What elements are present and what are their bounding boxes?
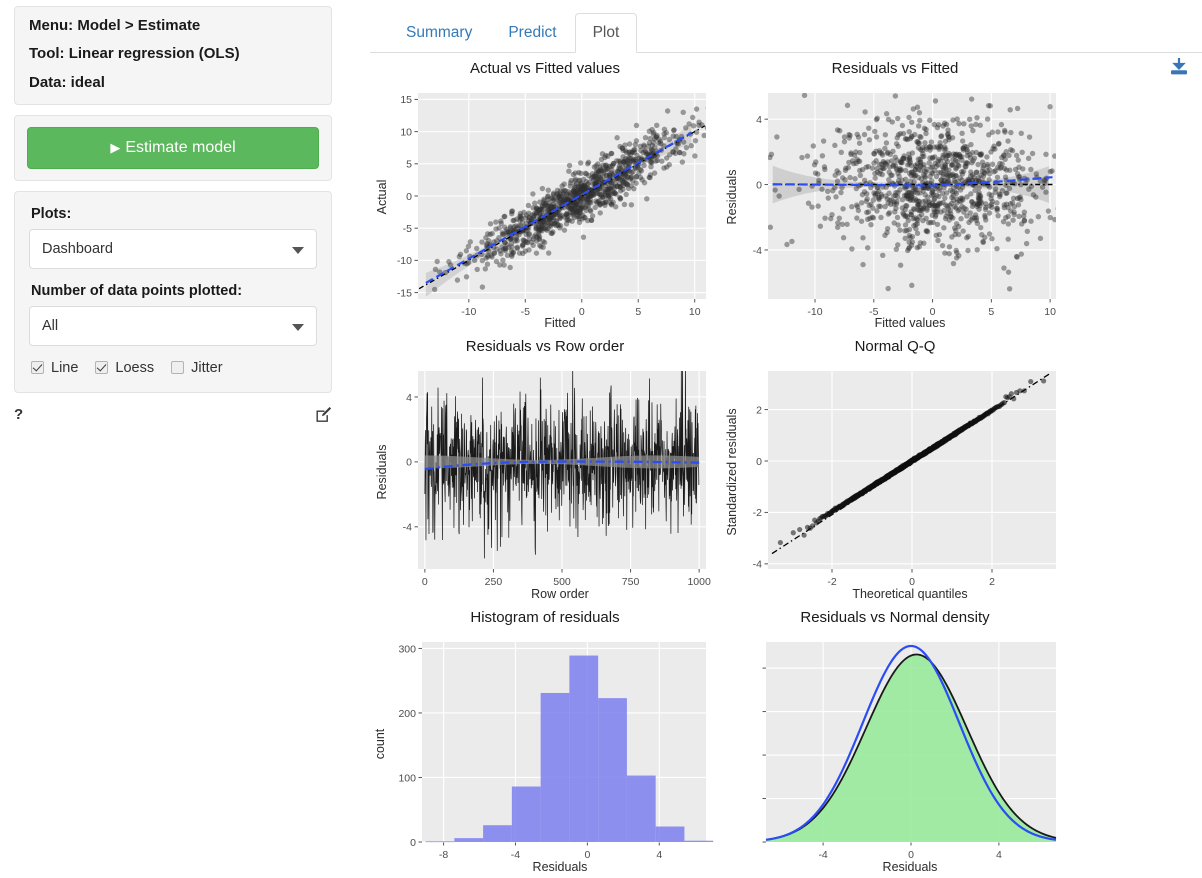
x-axis-label: Fitted values (875, 316, 946, 330)
svg-text:-5: -5 (403, 223, 412, 235)
checkbox-line[interactable]: Line (31, 360, 78, 376)
y-axis-label: Standardized residuals (725, 408, 739, 535)
svg-text:750: 750 (622, 576, 640, 588)
svg-text:5: 5 (406, 159, 412, 171)
plot-residuals-vs-normal-density: Residuals vs Normal density -404 Residua… (720, 605, 1070, 878)
plot-residuals-vs-fitted-svg: -10-50510-404 Fitted values Residuals (720, 79, 1070, 334)
plot-actual-vs-fitted-svg: -10-50510-15-10-5051015 Fitted Actual (370, 79, 720, 334)
svg-text:5: 5 (635, 306, 641, 318)
plot-title: Residuals vs Row order (370, 338, 720, 355)
svg-text:1000: 1000 (687, 576, 711, 588)
download-icon[interactable] (1168, 56, 1190, 78)
checkbox-loess[interactable]: Loess (95, 360, 154, 376)
svg-text:10: 10 (689, 306, 701, 318)
app-root: Menu: Model > Estimate Tool: Linear regr… (0, 0, 1202, 872)
checkbox-line-label: Line (51, 360, 78, 376)
svg-text:-8: -8 (439, 849, 448, 861)
svg-text:-4: -4 (403, 522, 412, 534)
checkmark-icon (95, 361, 108, 374)
plot-residuals-vs-fitted: Residuals vs Fitted -10-50510-404 Fitted… (720, 56, 1070, 334)
x-axis-label: Theoretical quantiles (852, 587, 967, 601)
svg-text:0: 0 (406, 191, 412, 203)
plot-row-2: Residuals vs Row order 02505007501000-40… (370, 334, 1070, 605)
panel-footer: ? (14, 399, 332, 423)
plot-histogram-svg: -8-4040100200300 Residuals count (370, 628, 720, 878)
x-axis-label: Fitted (544, 316, 575, 330)
svg-text:4: 4 (406, 392, 412, 404)
tool-name: Tool: Linear regression (OLS) (29, 45, 317, 62)
tab-summary[interactable]: Summary (388, 13, 490, 53)
svg-text:15: 15 (400, 94, 412, 106)
plot-row-3: Histogram of residuals -8-4040100200300 … (370, 605, 1070, 878)
controls-panel: Plots: Dashboard Number of data points p… (14, 191, 332, 393)
play-icon: ▶ (110, 140, 120, 155)
edit-icon[interactable] (315, 406, 332, 423)
points-select[interactable]: All (29, 306, 317, 346)
points-label: Number of data points plotted: (31, 283, 317, 299)
svg-text:-4: -4 (818, 849, 827, 861)
plot-title: Residuals vs Normal density (720, 609, 1070, 626)
checkbox-jitter[interactable]: Jitter (171, 360, 222, 376)
svg-text:100: 100 (398, 772, 416, 784)
svg-text:4: 4 (656, 849, 662, 861)
points-select-wrapper: All (29, 306, 317, 346)
svg-text:4: 4 (996, 849, 1002, 861)
plot-title: Residuals vs Fitted (720, 60, 1070, 77)
plot-residuals-vs-row-order: Residuals vs Row order 02505007501000-40… (370, 334, 720, 605)
main-content: Summary Predict Plot Actual vs Fitted va… (370, 0, 1202, 872)
tab-plot[interactable]: Plot (575, 13, 638, 53)
menu-path: Menu: Model > Estimate (29, 17, 317, 34)
empty-checkbox-icon (171, 361, 184, 374)
svg-text:0: 0 (756, 456, 762, 468)
svg-text:-15: -15 (397, 287, 412, 299)
sidebar: Menu: Model > Estimate Tool: Linear regr… (14, 6, 332, 423)
svg-text:200: 200 (398, 708, 416, 720)
svg-text:300: 300 (398, 643, 416, 655)
plot-title: Histogram of residuals (370, 609, 720, 626)
plot-grid: Actual vs Fitted values -10-50510-15-10-… (370, 56, 1070, 878)
help-icon[interactable]: ? (14, 406, 23, 423)
plot-histogram-of-residuals: Histogram of residuals -8-4040100200300 … (370, 605, 720, 878)
svg-text:0: 0 (410, 837, 416, 849)
svg-text:2: 2 (989, 576, 995, 588)
svg-text:0: 0 (756, 179, 762, 191)
checkmark-icon (31, 361, 44, 374)
svg-text:250: 250 (485, 576, 503, 588)
plot-normal-qq-svg: -202-4-202 Theoretical quantiles Standar… (720, 357, 1070, 605)
y-axis-label: Residuals (725, 170, 739, 225)
plot-options-row: Line Loess Jitter (31, 360, 317, 376)
plot-residuals-vs-row-order-svg: 02505007501000-404 Row order Residuals (370, 357, 720, 605)
x-axis-label: Row order (531, 587, 589, 601)
svg-text:-4: -4 (753, 559, 762, 571)
action-panel: ▶Estimate model (14, 115, 332, 181)
plots-select-wrapper: Dashboard (29, 229, 317, 269)
plot-row-1: Actual vs Fitted values -10-50510-15-10-… (370, 56, 1070, 334)
plots-label: Plots: (31, 206, 317, 222)
checkbox-loess-label: Loess (115, 360, 154, 376)
svg-text:0: 0 (579, 306, 585, 318)
svg-text:0: 0 (422, 576, 428, 588)
plot-density-svg: -404 Residuals (720, 628, 1070, 878)
plot-title: Normal Q-Q (720, 338, 1070, 355)
svg-text:0: 0 (406, 457, 412, 469)
estimate-model-button[interactable]: ▶Estimate model (27, 127, 319, 169)
plots-select[interactable]: Dashboard (29, 229, 317, 269)
svg-text:10: 10 (1044, 306, 1056, 318)
dataset-name: Data: ideal (29, 74, 317, 91)
y-axis-label: Residuals (375, 445, 389, 500)
svg-text:10: 10 (400, 126, 412, 138)
svg-text:-2: -2 (753, 507, 762, 519)
checkbox-jitter-label: Jitter (191, 360, 222, 376)
svg-text:2: 2 (756, 404, 762, 416)
context-info-panel: Menu: Model > Estimate Tool: Linear regr… (14, 6, 332, 105)
svg-text:-5: -5 (521, 306, 530, 318)
svg-text:5: 5 (988, 306, 994, 318)
points-select-value: All (42, 318, 58, 334)
tab-bar: Summary Predict Plot (370, 0, 1202, 53)
svg-text:-2: -2 (827, 576, 836, 588)
estimate-model-label: Estimate model (125, 139, 235, 156)
plot-actual-vs-fitted: Actual vs Fitted values -10-50510-15-10-… (370, 56, 720, 334)
svg-text:-10: -10 (461, 306, 476, 318)
svg-text:4: 4 (756, 114, 762, 126)
plots-select-value: Dashboard (42, 241, 113, 257)
plot-normal-qq: Normal Q-Q -202-4-202 Theoretical quanti… (720, 334, 1070, 605)
plot-title: Actual vs Fitted values (370, 60, 720, 77)
y-axis-label: Actual (375, 180, 389, 215)
y-axis-label: count (373, 728, 387, 759)
svg-text:-4: -4 (753, 245, 762, 257)
svg-text:-4: -4 (511, 849, 520, 861)
svg-text:-10: -10 (397, 255, 412, 267)
svg-text:-10: -10 (807, 306, 822, 318)
tab-predict[interactable]: Predict (490, 13, 574, 53)
